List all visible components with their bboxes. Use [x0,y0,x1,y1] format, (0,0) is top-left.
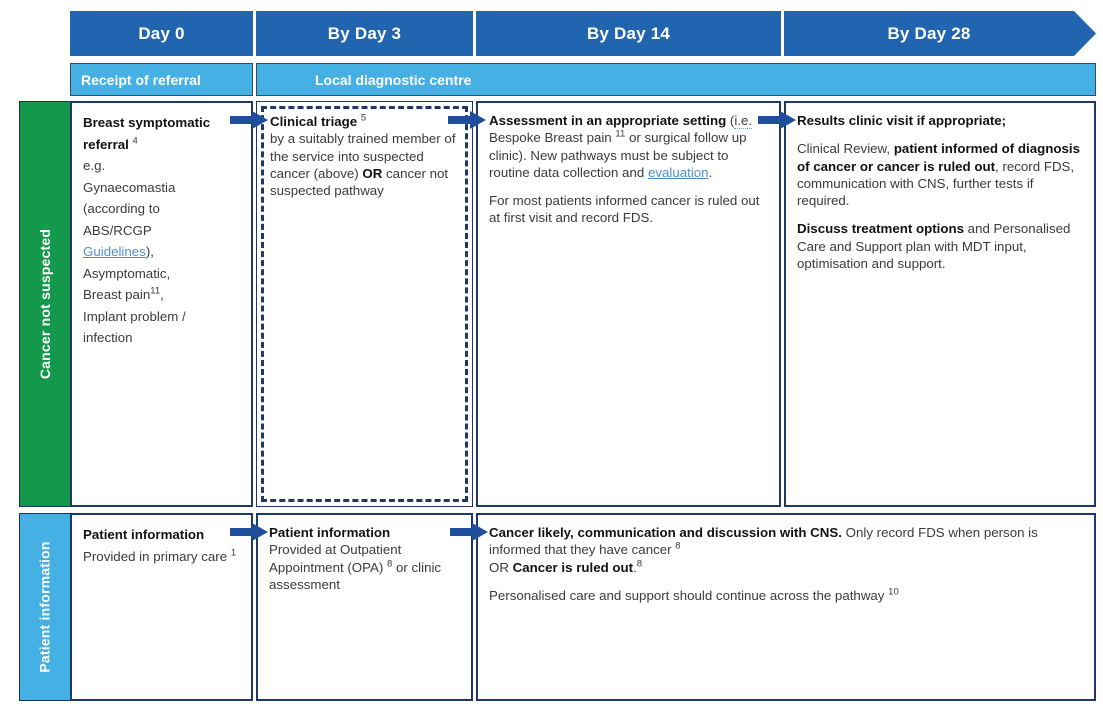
cell-cancer-day-14: Assessment in an appropriate setting (i.… [476,101,781,507]
cell-cancer-day-0: Breast symptomatic referral 4 e.g. Gynae… [70,101,253,507]
phase-label: By Day 28 [784,24,1096,44]
footnote-ref: 8 [637,558,642,569]
ie-abbrev: i.e. [734,113,752,129]
setting-band-label: Local diagnostic centre [315,72,471,88]
cell-text: Patient information Provided at Outpatie… [269,524,461,593]
cell-cancer-day-28: Results clinic visit if appropriate; Cli… [784,101,1096,507]
footnote-ref: 5 [361,113,366,124]
setting-band-receipt-of-referral: Receipt of referral [70,63,253,96]
paragraph-spacer [489,181,769,192]
cell-text-2: Personalised care and support should con… [489,587,1084,604]
pathway-diagram: Day 0 By Day 3 By Day 14 By Day 28 Recei… [0,0,1103,717]
cell-patient-day-3: Patient information Provided at Outpatie… [256,513,473,701]
rail-label: Patient information [37,541,53,672]
cell-patient-day-0: Patient information Provided in primary … [70,513,253,701]
footnote-ref: 8 [675,541,680,552]
cell-text: Patient information Provided in primary … [83,524,241,567]
setting-band-local-diagnostic-centre: Local diagnostic centre [256,63,1096,96]
evaluation-link[interactable]: evaluation [648,165,709,180]
cell-text: Assessment in an appropriate setting (i.… [489,112,769,181]
cell-text: Clinical Review, patient informed of dia… [797,140,1084,209]
footnote-ref: 11 [615,129,625,140]
phase-header-by-day-28: By Day 28 [784,11,1096,56]
phase-label: By Day 14 [587,24,670,44]
phase-header-by-day-3: By Day 3 [256,11,473,56]
guidelines-link[interactable]: Guidelines [83,244,146,259]
cell-heading: Results clinic visit if appropriate; [797,112,1084,129]
paragraph-spacer [489,576,1084,587]
cell-text: Clinical triage 5 by a suitably trained … [270,113,459,199]
paragraph-spacer [797,129,1084,140]
rail-cancer-not-suspected: Cancer not suspected [19,101,71,507]
cell-text: Cancer likely, communication and discuss… [489,524,1084,576]
cell-cancer-day-3: Clinical triage 5 by a suitably trained … [256,101,473,507]
phase-header-day-0: Day 0 [70,11,253,56]
setting-band-label: Receipt of referral [81,72,201,88]
footnote-ref: 4 [133,135,138,146]
phase-label: By Day 3 [328,24,401,44]
cell-patient-wide: Cancer likely, communication and discuss… [476,513,1096,701]
phase-label: Day 0 [138,24,184,44]
footnote-ref: 11 [150,286,160,297]
cell-text-2: Discuss treatment options and Personalis… [797,220,1084,272]
cell-text-2: For most patients informed cancer is rul… [489,192,769,227]
phase-header-by-day-14: By Day 14 [476,11,781,56]
rail-label: Cancer not suspected [37,229,53,379]
rail-patient-information: Patient information [19,513,71,701]
paragraph-spacer [797,209,1084,220]
footnote-ref: 10 [888,586,899,597]
footnote-ref: 1 [231,547,236,558]
cell-text: Breast symptomatic referral 4 e.g. Gynae… [83,112,241,349]
